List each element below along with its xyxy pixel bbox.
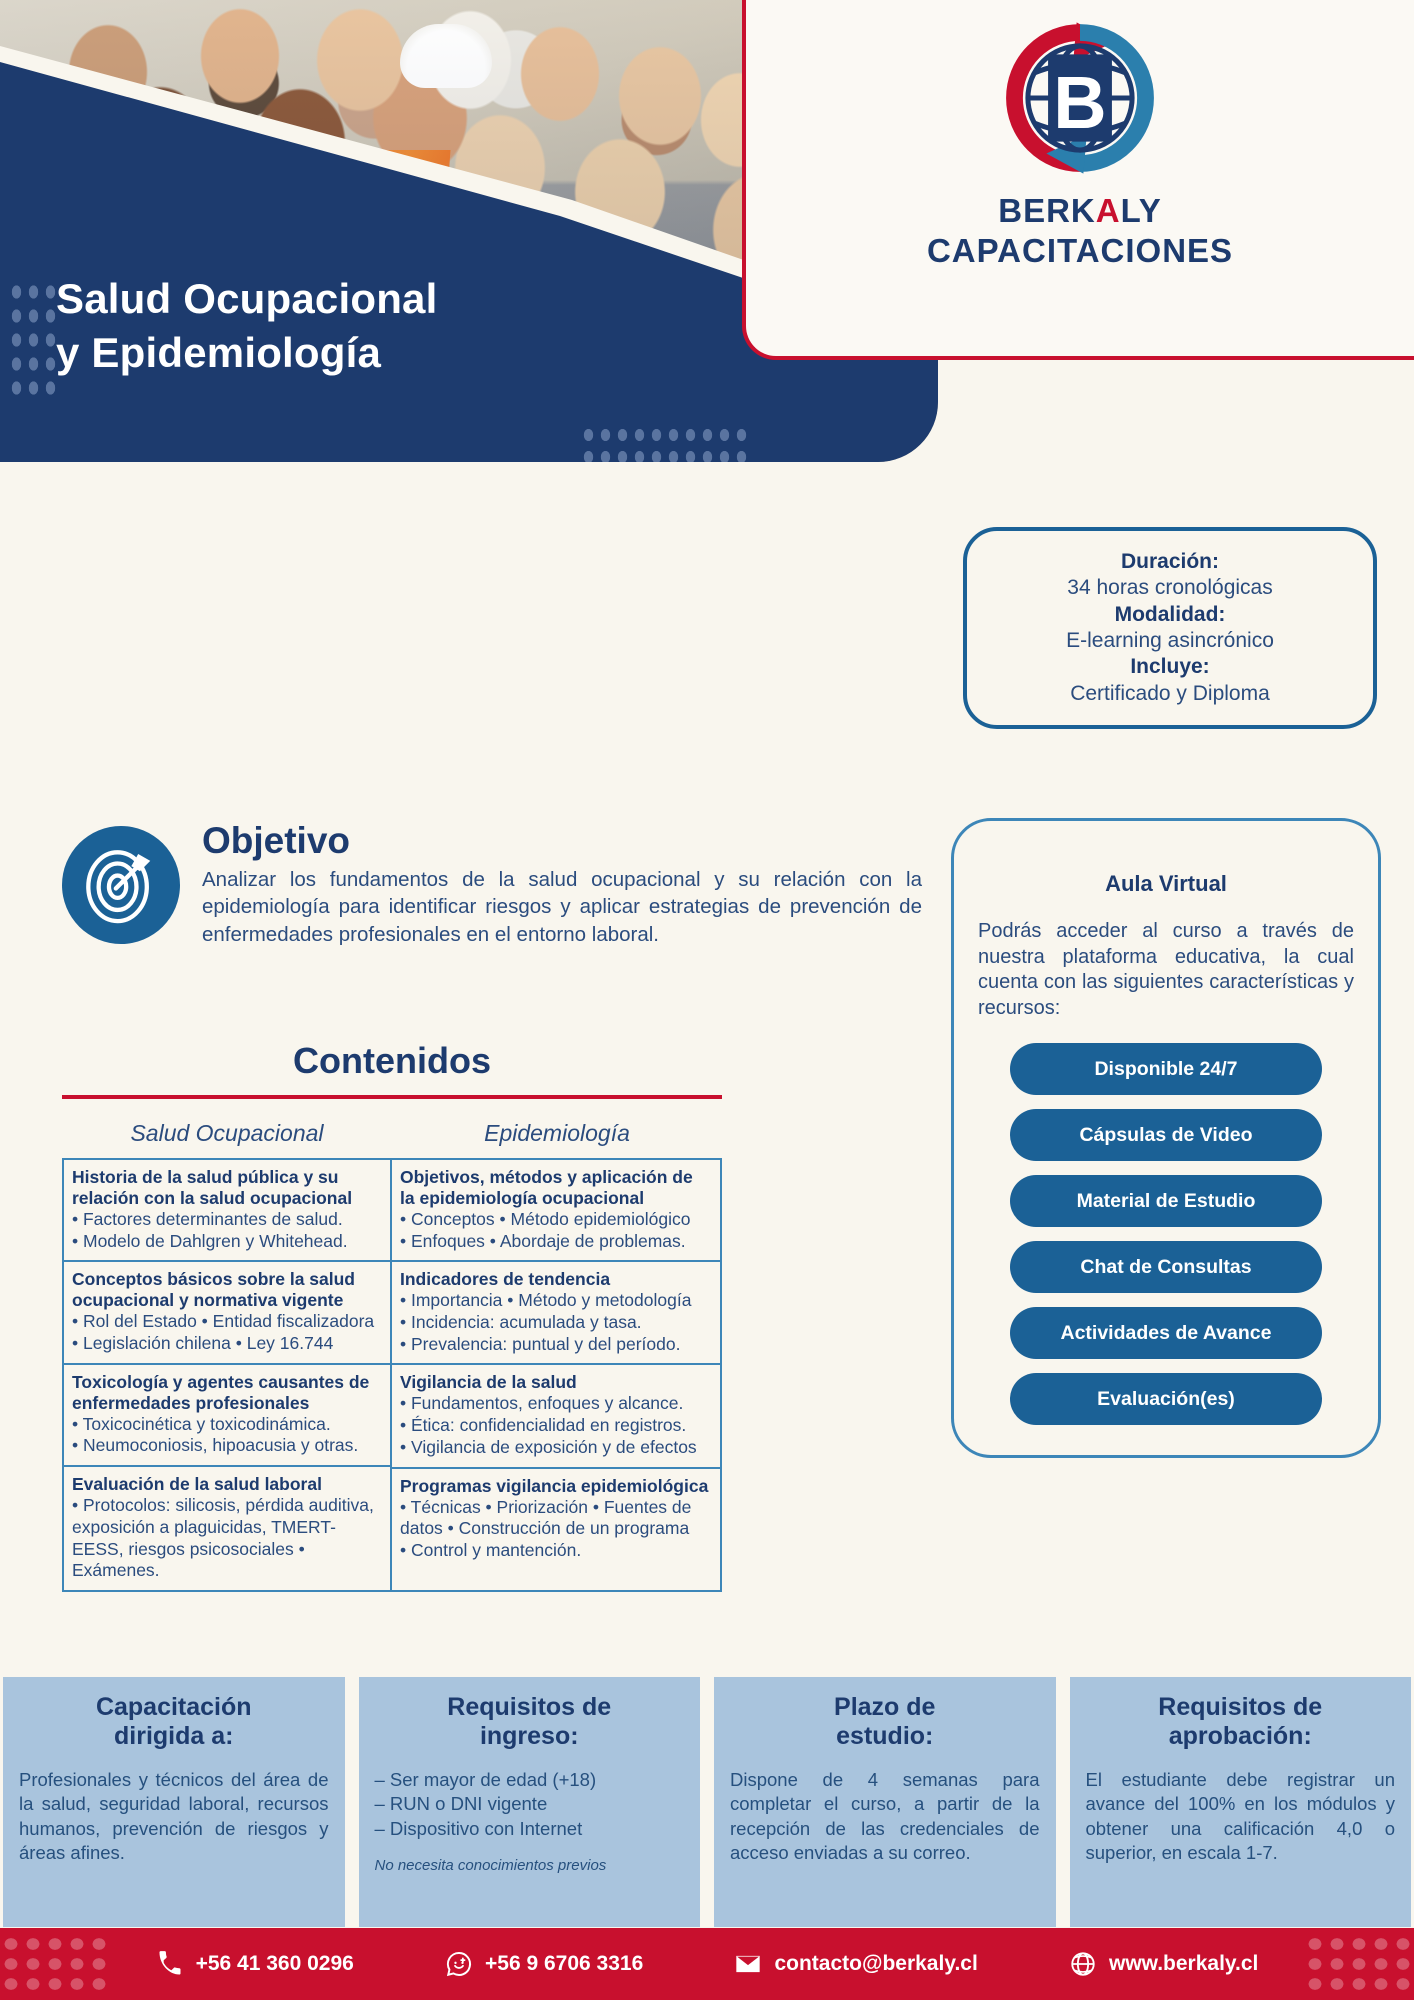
module-line: • Importancia • Método y metodología	[400, 1290, 712, 1312]
info-box-dirigida-a: Capacitación dirigida a: Profesionales y…	[3, 1677, 345, 1927]
info-heading: Capacitación dirigida a:	[19, 1693, 329, 1750]
brand-name-part2: LY	[1121, 192, 1162, 229]
info-heading-line-1: Requisitos de	[1086, 1693, 1396, 1722]
feature-pill-evaluaciones[interactable]: Evaluación(es)	[1010, 1373, 1322, 1425]
contact-website[interactable]: www.berkaly.cl	[1069, 1950, 1258, 1978]
info-heading: Requisitos de ingreso:	[375, 1693, 685, 1750]
virtual-classroom-text: Podrás acceder al curso a través de nues…	[978, 919, 1354, 1021]
table-row: Conceptos básicos sobre la salud ocupaci…	[64, 1262, 390, 1364]
contents-table: Historia de la salud pública y su relaci…	[62, 1158, 722, 1592]
info-body: – Ser mayor de edad (+18) – RUN o DNI vi…	[375, 1768, 685, 1841]
duration-value: 34 horas cronológicas	[1067, 575, 1272, 601]
module-title: Evaluación de la salud laboral	[72, 1474, 382, 1495]
contents-header-right: Epidemiología	[392, 1120, 722, 1147]
info-heading-line-1: Plazo de	[730, 1693, 1040, 1722]
svg-text:B: B	[1053, 61, 1106, 144]
contents-column-salud-ocupacional: Historia de la salud pública y su relaci…	[64, 1160, 392, 1590]
info-box-requisitos-aprobacion: Requisitos de aprobación: El estudiante …	[1070, 1677, 1412, 1927]
contact-phone[interactable]: +56 41 360 0296	[156, 1950, 354, 1978]
course-details-box: Duración: 34 horas cronológicas Modalida…	[963, 527, 1377, 729]
module-line: • Modelo de Dahlgren y Whitehead.	[72, 1231, 382, 1253]
info-note: No necesita conocimientos previos	[375, 1857, 685, 1874]
objective-text: Analizar los fundamentos de la salud ocu…	[202, 866, 922, 948]
contents-header-left: Salud Ocupacional	[62, 1120, 392, 1147]
contact-whatsapp[interactable]: +56 9 6706 3316	[445, 1950, 643, 1978]
module-line: • Factores determinantes de salud.	[72, 1209, 382, 1231]
module-line: • Neumoconiosis, hipoacusia y otras.	[72, 1435, 382, 1457]
module-line: • Rol del Estado • Entidad fiscalizadora	[72, 1311, 382, 1333]
module-line: • Técnicas • Priorización • Fuentes de d…	[400, 1497, 712, 1540]
info-body: El estudiante debe registrar un avance d…	[1086, 1768, 1396, 1866]
virtual-classroom-features: Disponible 24/7 Cápsulas de Video Materi…	[954, 1043, 1378, 1425]
footer-dot-pattern-right	[1304, 1934, 1414, 1994]
info-heading-line-1: Requisitos de	[375, 1693, 685, 1722]
info-heading-line-2: aprobación:	[1086, 1722, 1396, 1751]
module-line: • Conceptos • Método epidemiológico	[400, 1209, 712, 1231]
phone-number: +56 41 360 0296	[196, 1952, 354, 1976]
module-line: • Incidencia: acumulada y tasa.	[400, 1312, 712, 1334]
info-heading: Requisitos de aprobación:	[1086, 1693, 1396, 1750]
globe-icon	[1069, 1950, 1097, 1978]
footer-dot-pattern-left	[0, 1934, 110, 1994]
module-title: Historia de la salud pública y su relaci…	[72, 1167, 382, 1209]
module-line: • Vigilancia de exposición y de efectos	[400, 1437, 712, 1459]
logo-card: B BERKALY CAPACITACIONES	[742, 0, 1414, 360]
whatsapp-number: +56 9 6706 3316	[485, 1952, 643, 1976]
info-body: Dispone de 4 semanas para completar el c…	[730, 1768, 1040, 1866]
title-line-1: Salud Ocupacional	[56, 272, 616, 326]
info-boxes-row: Capacitación dirigida a: Profesionales y…	[0, 1677, 1414, 1927]
table-row: Toxicología y agentes causantes de enfer…	[64, 1365, 390, 1467]
module-title: Programas vigilancia epidemiológica	[400, 1476, 712, 1497]
dot-pattern-left	[8, 280, 58, 400]
module-title: Vigilancia de la salud	[400, 1372, 712, 1393]
info-heading-line-2: ingreso:	[375, 1722, 685, 1751]
contents-column-epidemiologia: Objetivos, métodos y aplicación de la ep…	[392, 1160, 720, 1590]
module-line: • Fundamentos, enfoques y alcance.	[400, 1393, 712, 1415]
feature-pill-chat-consultas[interactable]: Chat de Consultas	[1010, 1241, 1322, 1293]
module-line: • Legislación chilena • Ley 16.744	[72, 1333, 382, 1355]
includes-label: Incluye:	[1130, 654, 1209, 680]
target-icon	[62, 826, 180, 944]
modality-value: E-learning asincrónico	[1066, 628, 1274, 654]
feature-pill-actividades-avance[interactable]: Actividades de Avance	[1010, 1307, 1322, 1359]
objective-section: Objetivo Analizar los fundamentos de la …	[62, 820, 922, 948]
table-row: Programas vigilancia epidemiológica • Té…	[392, 1469, 720, 1570]
info-body: Profesionales y técnicos del área de la …	[19, 1768, 329, 1866]
contact-footer: +56 41 360 0296 +56 9 6706 3316 con	[0, 1928, 1414, 2000]
virtual-classroom-title: Aula Virtual	[954, 871, 1378, 897]
modality-label: Modalidad:	[1115, 602, 1226, 628]
contact-email[interactable]: contacto@berkaly.cl	[734, 1950, 977, 1978]
feature-pill-material-estudio[interactable]: Material de Estudio	[1010, 1175, 1322, 1227]
dot-pattern-right	[580, 424, 750, 462]
website-url: www.berkaly.cl	[1109, 1952, 1258, 1976]
module-title: Conceptos básicos sobre la salud ocupaci…	[72, 1269, 382, 1311]
contents-column-headers: Salud Ocupacional Epidemiología	[62, 1120, 722, 1147]
table-row: Objetivos, métodos y aplicación de la ep…	[392, 1160, 720, 1262]
berkaly-globe-logo-icon: B	[996, 14, 1164, 182]
feature-pill-capsulas-video[interactable]: Cápsulas de Video	[1010, 1109, 1322, 1161]
flyer-page: Salud Ocupacional y Epidemiología	[0, 0, 1414, 2000]
whatsapp-icon	[445, 1950, 473, 1978]
info-box-requisitos-ingreso: Requisitos de ingreso: – Ser mayor de ed…	[359, 1677, 701, 1927]
info-heading-line-2: estudio:	[730, 1722, 1040, 1751]
brand-name-part1: BERK	[998, 192, 1096, 229]
table-row: Vigilancia de la salud • Fundamentos, en…	[392, 1365, 720, 1468]
title-line-2: y Epidemiología	[56, 326, 616, 380]
virtual-classroom-box: Aula Virtual Podrás acceder al curso a t…	[951, 818, 1381, 1458]
phone-icon	[156, 1950, 184, 1978]
module-line: • Control y mantención.	[400, 1540, 712, 1562]
info-box-plazo-estudio: Plazo de estudio: Dispone de 4 semanas p…	[714, 1677, 1056, 1927]
module-title: Toxicología y agentes causantes de enfer…	[72, 1372, 382, 1414]
module-title: Indicadores de tendencia	[400, 1269, 712, 1290]
includes-value: Certificado y Diploma	[1070, 681, 1270, 707]
info-heading: Plazo de estudio:	[730, 1693, 1040, 1750]
brand-name-line-1: BERKALY	[998, 192, 1162, 230]
contents-title: Contenidos	[62, 1040, 722, 1082]
info-heading-line-2: dirigida a:	[19, 1722, 329, 1751]
table-row: Evaluación de la salud laboral • Protoco…	[64, 1467, 390, 1590]
module-line: • Prevalencia: puntual y del período.	[400, 1334, 712, 1356]
email-address: contacto@berkaly.cl	[774, 1952, 977, 1976]
table-row: Historia de la salud pública y su relaci…	[64, 1160, 390, 1262]
module-line: • Enfoques • Abordaje de problemas.	[400, 1231, 712, 1253]
table-row: Indicadores de tendencia • Importancia •…	[392, 1262, 720, 1365]
feature-pill-disponible[interactable]: Disponible 24/7	[1010, 1043, 1322, 1095]
module-line: • Ética: confidencialidad en registros.	[400, 1415, 712, 1437]
brand-name-accent: A	[1096, 192, 1121, 229]
module-line: • Protocolos: silicosis, pérdida auditiv…	[72, 1495, 382, 1582]
module-line: • Toxicocinética y toxicodinámica.	[72, 1414, 382, 1436]
brand-name-line-2: CAPACITACIONES	[927, 232, 1233, 270]
module-title: Objetivos, métodos y aplicación de la ep…	[400, 1167, 712, 1209]
objective-title: Objetivo	[202, 820, 922, 862]
contents-divider	[62, 1095, 722, 1099]
page-title: Salud Ocupacional y Epidemiología	[56, 272, 616, 380]
mail-icon	[734, 1950, 762, 1978]
duration-label: Duración:	[1121, 549, 1219, 575]
info-heading-line-1: Capacitación	[19, 1693, 329, 1722]
